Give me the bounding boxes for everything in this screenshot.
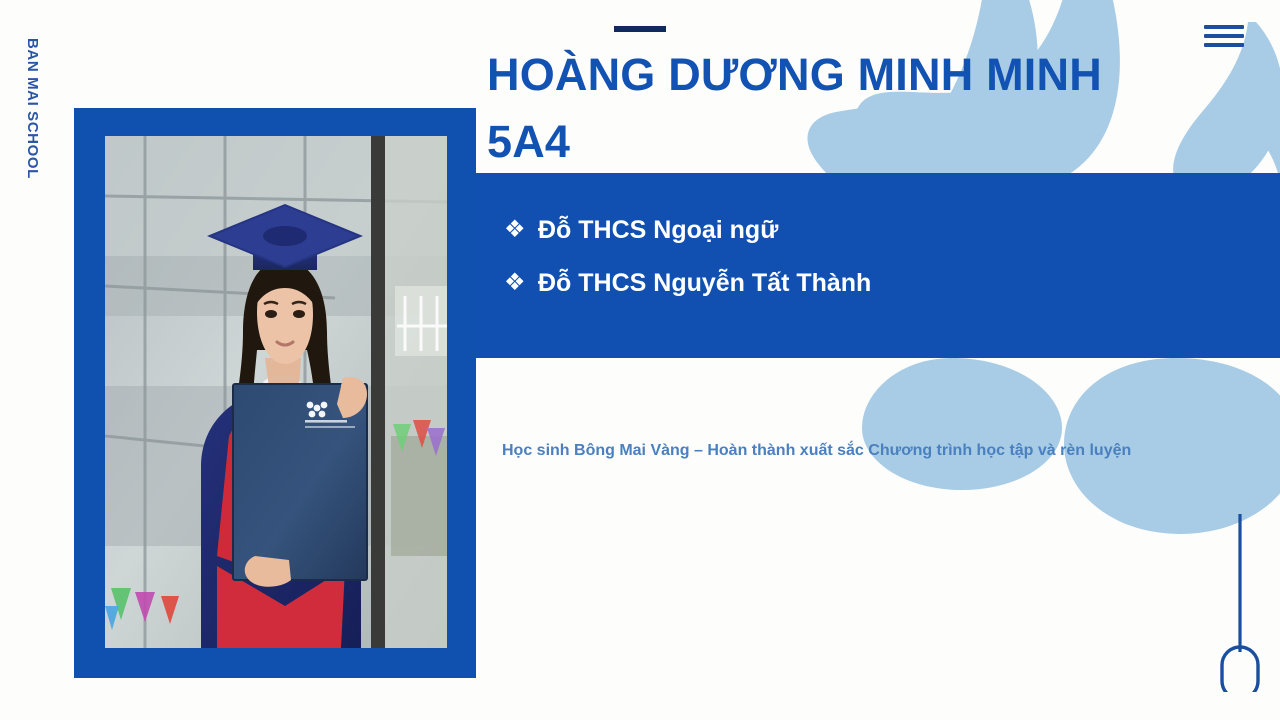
student-photo-frame	[74, 108, 476, 678]
achievements-list: ❖ Đỗ THCS Ngoại ngữ ❖ Đỗ THCS Nguyễn Tất…	[504, 216, 1244, 321]
list-item: ❖ Đỗ THCS Nguyễn Tất Thành	[504, 269, 1244, 299]
title-accent-dash	[614, 26, 666, 32]
page-title: HOÀNG DƯƠNG MINH MINH 5A4	[487, 42, 1187, 175]
student-class: 5A4	[487, 109, 1187, 176]
student-photo	[105, 136, 447, 648]
list-item: ❖ Đỗ THCS Ngoại ngữ	[504, 216, 1244, 246]
diamond-bullet-icon: ❖	[504, 216, 538, 244]
diamond-bullet-icon: ❖	[504, 269, 538, 297]
hamburger-bar-2	[1204, 34, 1244, 38]
award-caption: Học sinh Bông Mai Vàng – Hoàn thành xuất…	[502, 442, 1131, 460]
achievement-label: Đỗ THCS Nguyễn Tất Thành	[538, 269, 871, 299]
school-brand-vertical: BAN MAI SCHOOL	[24, 38, 41, 179]
hamburger-menu-icon[interactable]	[1204, 22, 1244, 50]
hamburger-bar-1	[1204, 25, 1244, 29]
student-name: HOÀNG DƯƠNG MINH MINH	[487, 42, 1187, 109]
mouse-scroll-icon[interactable]	[1216, 492, 1264, 692]
slide-canvas: BAN MAI SCHOOL HOÀNG DƯƠNG MINH MINH 5A4	[0, 0, 1280, 720]
achievement-label: Đỗ THCS Ngoại ngữ	[538, 216, 778, 246]
hamburger-bar-3	[1204, 43, 1244, 47]
